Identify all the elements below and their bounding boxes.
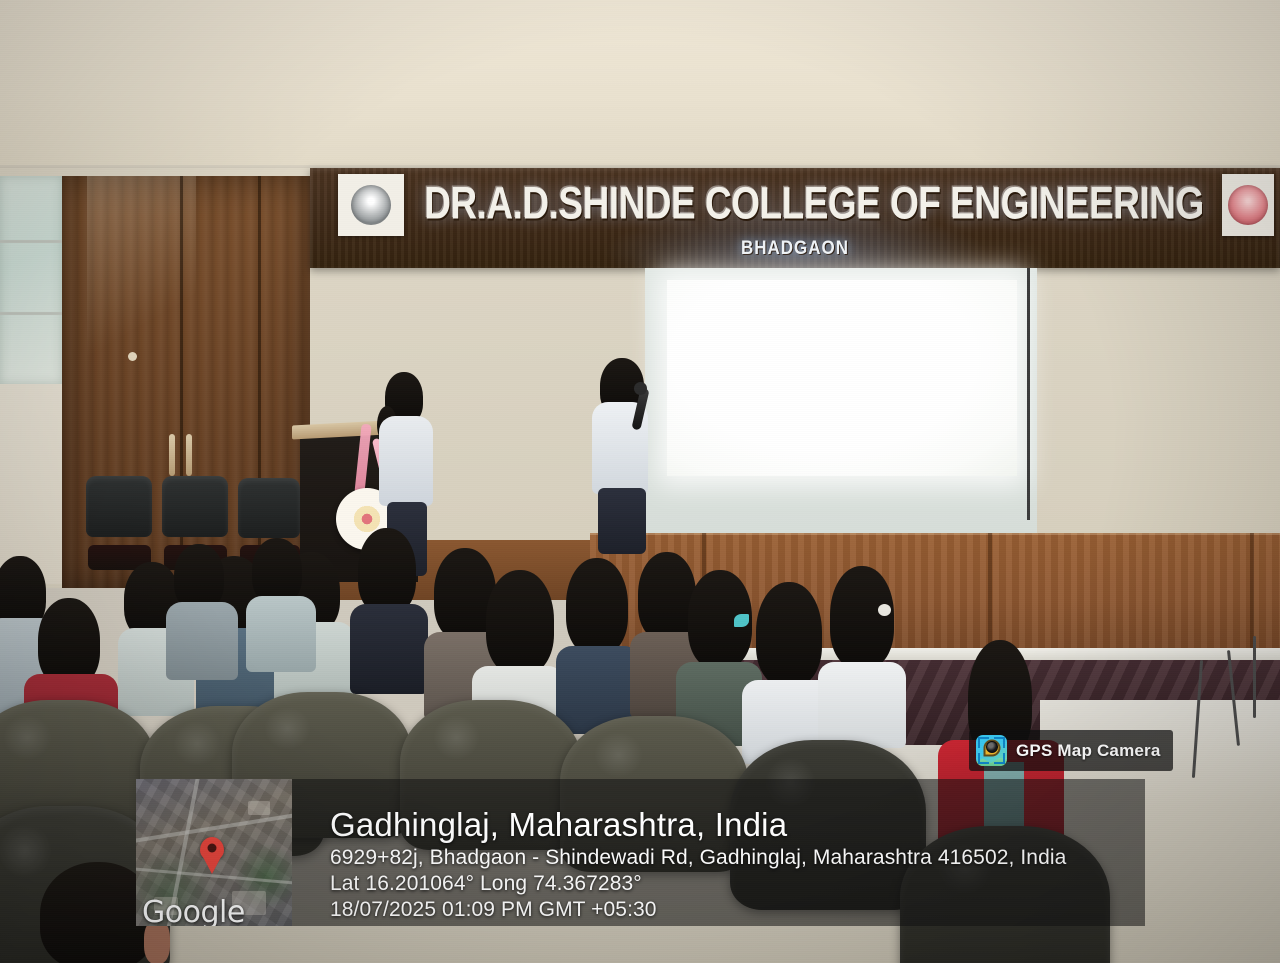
location-timestamp-line: 18/07/2025 01:09 PM GMT +05:30 [330, 897, 1130, 923]
google-watermark: Google [142, 895, 245, 926]
left-wall-panel [0, 384, 68, 584]
banner-title: DR.A.D.SHINDE COLLEGE OF ENGINEERING [420, 178, 1208, 229]
icon-frame-corner [978, 753, 989, 764]
location-address-line: 6929+82j, Bhadgaon - Shindewadi Rd, Gadh… [330, 845, 1130, 871]
audience-hair [756, 582, 822, 686]
door-handle [186, 434, 192, 476]
audience-member [818, 566, 906, 734]
audience-clothing [166, 602, 238, 680]
audience-hair [358, 528, 416, 614]
left-logo-panel [338, 174, 404, 236]
stage-panel-seam [1250, 533, 1254, 653]
map-thumbnail: Google [136, 779, 292, 926]
icon-frame-corner [994, 753, 1005, 764]
window-mullion [0, 312, 62, 315]
projection-screen-blank [667, 280, 1017, 476]
door-handle [169, 434, 175, 476]
audience-hair [252, 538, 302, 604]
chair-back [162, 476, 228, 537]
chair-highlight [433, 715, 480, 760]
audience-hair [566, 558, 628, 654]
projection-screen-area [645, 268, 1037, 533]
gps-map-camera-badge: GPS Map Camera [969, 730, 1173, 771]
chair-highlight [173, 721, 221, 766]
ceiling [0, 0, 1280, 172]
icon-frame-corner [978, 737, 989, 748]
stage-panel-seam [988, 533, 992, 653]
audience-face [144, 920, 170, 963]
audience-hair [830, 566, 894, 668]
location-coordinates-line: Lat 16.201064° Long 74.367283° [330, 871, 1130, 897]
icon-frame-corner [994, 737, 1005, 748]
college-crest-emblem [351, 185, 391, 225]
wall-fixture [128, 352, 137, 361]
audience-member [556, 558, 640, 722]
audience-hair [174, 544, 224, 610]
institute-seal-emblem [1228, 185, 1268, 225]
audience-clothing [350, 604, 428, 694]
presenter-shirt [379, 416, 433, 506]
gps-map-camera-label: GPS Map Camera [1016, 741, 1161, 761]
photograph-canvas: DR.A.D.SHINDE COLLEGE OF ENGINEERING BHA… [0, 0, 1280, 963]
chair-back [238, 478, 300, 538]
college-name-banner: DR.A.D.SHINDE COLLEGE OF ENGINEERING BHA… [310, 168, 1280, 268]
chair-highlight [3, 715, 51, 760]
empty-chair [86, 476, 152, 574]
audience-member [352, 528, 430, 684]
chair-highlight [594, 732, 643, 779]
location-city-line: Gadhinglaj, Maharashtra, India [330, 805, 1130, 845]
audience-hair [38, 598, 100, 686]
presenter-holding-microphone [592, 358, 670, 546]
audience-clothing [818, 662, 906, 748]
presenter-trousers [598, 488, 646, 554]
location-marker-pin [200, 837, 224, 861]
location-overlay-text: Gadhinglaj, Maharashtra, India 6929+82j,… [330, 805, 1130, 923]
screen-cord [1027, 268, 1030, 520]
chair-highlight [264, 707, 311, 751]
microphone-head [634, 382, 647, 395]
audience-hair [486, 570, 554, 674]
audience-member [166, 544, 238, 676]
banner-subtitle: BHADGAON [310, 237, 1280, 260]
marker-center [208, 843, 217, 852]
right-logo-panel [1222, 174, 1274, 236]
hair-clip [878, 604, 891, 616]
window-mullion [0, 240, 62, 243]
gps-map-camera-icon [976, 735, 1007, 766]
audience-member [246, 538, 316, 666]
map-building [248, 801, 270, 815]
chair-leg [1253, 636, 1256, 718]
audience-clothing [246, 596, 316, 672]
side-window [0, 176, 67, 384]
chair-back [86, 476, 152, 537]
